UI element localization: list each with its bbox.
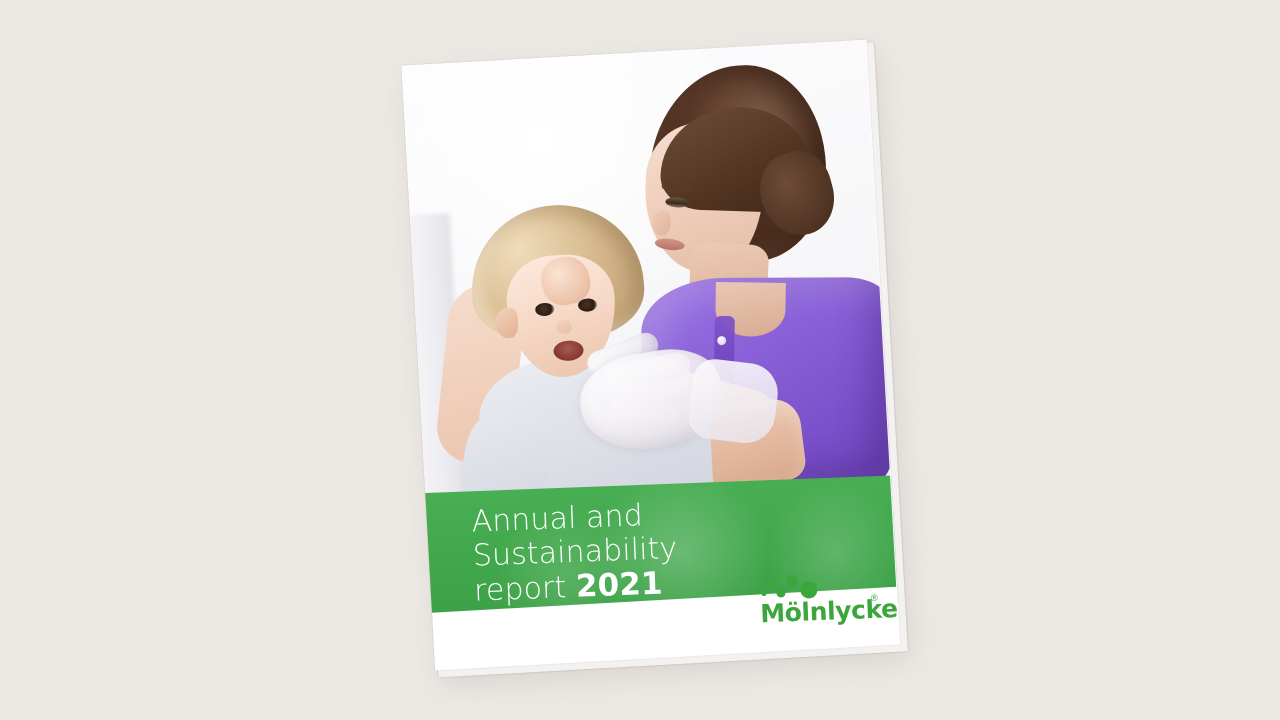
annual-report-booklet: Annual and Sustainability report 2021 Mö… [401, 39, 904, 674]
logo-dot-icon [786, 575, 798, 587]
logo-dot-icon [800, 581, 818, 599]
molnlycke-logo: Mölnlycke ® [759, 565, 885, 630]
logo-dot-icon [767, 581, 774, 588]
logo-dot-icon [761, 591, 766, 596]
report-cover: Annual and Sustainability report 2021 Mö… [401, 40, 900, 671]
cover-title-report-word: report [474, 570, 577, 609]
logo-dot-icon [776, 588, 785, 597]
registered-trademark-icon: ® [870, 594, 879, 604]
cover-title: Annual and Sustainability report 2021 [471, 494, 775, 608]
glove-cuff [686, 357, 781, 447]
cover-title-year: 2021 [575, 565, 663, 604]
screenshot-canvas: Annual and Sustainability report 2021 Mö… [0, 0, 1280, 720]
